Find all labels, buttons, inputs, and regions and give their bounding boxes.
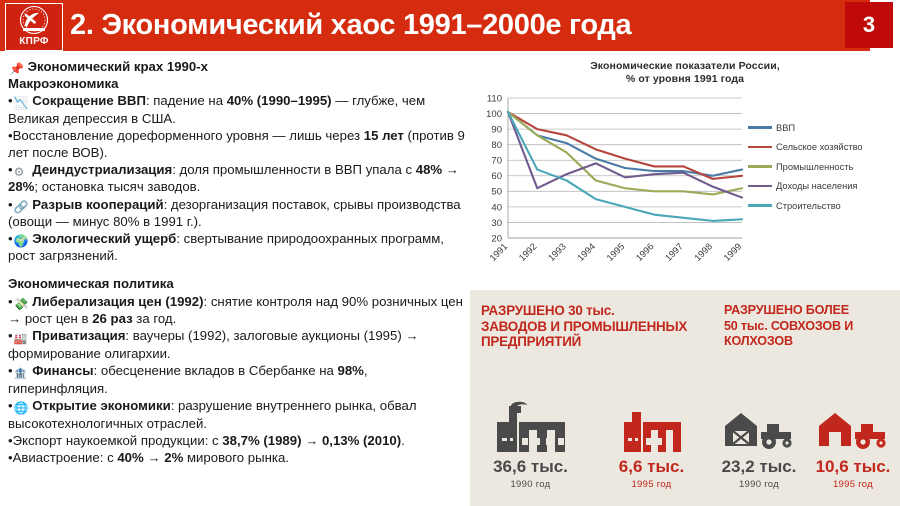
heading-macroeconomics: Макроэкономика [8, 75, 466, 92]
globe-earth-icon: 🌍 [14, 235, 27, 247]
legend-label: Промышленность [776, 162, 853, 172]
text-line-price-liberalization: •💸 Либерализация цен (1992): снятие конт… [8, 293, 466, 327]
bank-icon: 🏦 [14, 368, 27, 380]
figure-value: 36,6 тыс. [493, 457, 568, 477]
infographic-factories: РАЗРУШЕНО 30 тыс. ЗАВОДОВ И ПРОМЫШЛЕННЫХ… [470, 290, 712, 506]
figure-farms-1995: 10,6 тыс. 1995 год [808, 398, 898, 490]
infographic-farms-title: РАЗРУШЕНО БОЛЕЕ 50 тыс. СОВХОЗОВ И КОЛХО… [724, 303, 896, 350]
hammer-sickle-book-emblem [12, 5, 56, 37]
page-number-badge: 3 [845, 2, 893, 48]
legend-label: Строительство [776, 201, 841, 211]
factory-icon [620, 398, 684, 452]
chart-xtick-label: 1995 [605, 241, 627, 263]
slide: КПРФ 2. Экономический хаос 1991–2000е го… [0, 0, 900, 506]
chart-ytick-label: 60 [491, 171, 502, 182]
pushpin-icon: 📌 [9, 63, 22, 75]
text-line-aviation: •Авиастроение: с 40% → 2% мирового рынка… [8, 449, 466, 466]
chart-xtick-label: 1991 [488, 241, 510, 263]
text-line-ecological-damage: •🌍 Экологический ущерб: свертывание прир… [8, 230, 466, 264]
infographic-panel: РАЗРУШЕНО 30 тыс. ЗАВОДОВ И ПРОМЫШЛЕННЫХ… [470, 290, 900, 506]
heading-economic-policy: Экономическая политика [8, 275, 466, 292]
legend-color-swatch [748, 146, 772, 149]
chart-ytick-label: 70 [491, 156, 502, 167]
infographic-factories-figures: 36,6 тыс. 1990 год [470, 398, 712, 490]
legend-item: Строительство [748, 200, 898, 211]
text-line-recovery: •Восстановление дореформенного уровня — … [8, 127, 466, 161]
chart-series-line [508, 112, 742, 198]
figure-value: 10,6 тыс. [816, 457, 891, 477]
farm-tractor-icon [815, 398, 891, 452]
logo-label: КПРФ [19, 37, 49, 47]
figure-year: 1990 год [510, 479, 550, 490]
chart-xtick-label: 1993 [546, 241, 568, 263]
legend-label: Сельское хозяйство [776, 142, 863, 152]
figure-value: 6,6 тыс. [619, 457, 684, 477]
legend-item: Сельское хозяйство [748, 142, 898, 153]
chart-xtick-label: 1994 [575, 241, 597, 263]
text-line-privatization: •🏭 Приватизация: ваучеры (1992), залогов… [8, 327, 466, 362]
figure-year: 1995 год [833, 479, 873, 490]
chart-legend: ВВПСельское хозяйствоПромышленностьДоход… [748, 122, 898, 220]
legend-color-swatch [748, 165, 772, 168]
chart-xtick-label: 1998 [692, 241, 714, 263]
factory-icon: 🏭 [14, 333, 27, 345]
figure-year: 1995 год [631, 479, 671, 490]
chart-xtick-label: 1992 [517, 241, 539, 263]
figure-factories-1995: 6,6 тыс. 1995 год [593, 398, 709, 490]
chart-xtick-label: 1997 [663, 241, 685, 263]
economic-indicators-chart: Экономические показатели России, % от ур… [470, 56, 900, 288]
chart-series-line [508, 112, 742, 194]
broken-link-icon: 🔗 [14, 201, 27, 213]
figure-value: 23,2 тыс. [722, 457, 797, 477]
figure-year: 1990 год [739, 479, 779, 490]
text-line-gdp-drop: •📉 Сокращение ВВП: падение на 40% (1990–… [8, 92, 466, 126]
legend-color-swatch [748, 185, 772, 188]
header-underline [0, 51, 862, 55]
chart-ytick-label: 30 [491, 218, 502, 229]
legend-item: Доходы населения [748, 181, 898, 192]
chart-ytick-label: 90 [491, 125, 502, 136]
chart-ytick-label: 50 [491, 187, 502, 198]
chart-subtitle: % от уровня 1991 года [470, 73, 900, 86]
legend-color-swatch [748, 204, 772, 207]
money-with-wings-icon: 💸 [14, 298, 27, 310]
legend-color-swatch [748, 126, 772, 129]
chart-title: Экономические показатели России, % от ур… [470, 60, 900, 86]
chart-series-line [508, 112, 742, 176]
text-line-cooperation-break: •🔗 Разрыв коопераций: дезорганизация пос… [8, 196, 466, 230]
factory-icon [489, 398, 573, 452]
chart-ytick-label: 110 [487, 93, 502, 104]
chart-title-line1: Экономические показатели России, [470, 60, 900, 73]
chart-series-line [508, 112, 742, 221]
gear-icon: ⚙ [14, 166, 27, 178]
infographic-factories-title: РАЗРУШЕНО 30 тыс. ЗАВОДОВ И ПРОМЫШЛЕННЫХ… [481, 303, 706, 350]
chart-ytick-label: 40 [491, 202, 502, 213]
figure-farms-1990: 23,2 тыс. 1990 год [714, 398, 804, 490]
text-line-hi-tech-export: •Экспорт наукоемкой продукции: с 38,7% (… [8, 432, 466, 449]
legend-label: ВВП [776, 123, 795, 133]
chart-ytick-label: 100 [486, 109, 502, 120]
infographic-farms: РАЗРУШЕНО БОЛЕЕ 50 тыс. СОВХОЗОВ И КОЛХО… [712, 290, 900, 506]
text-line-crash: 📌 Экономический крах 1990-х [8, 58, 466, 75]
kprf-logo: КПРФ [5, 3, 63, 51]
paragraph-spacer [8, 264, 466, 275]
legend-item: Промышленность [748, 161, 898, 172]
content-text-column: 📌 Экономический крах 1990-х Макроэкономи… [8, 58, 466, 503]
chart-xtick-label: 1999 [722, 241, 744, 263]
text-line-deindustrialization: •⚙ Деиндустриализация: доля промышленнос… [8, 161, 466, 195]
chart-xtick-label: 1996 [634, 241, 656, 263]
text-line-open-economy: •🌐 Открытие экономики: разрушение внутре… [8, 397, 466, 431]
page-title: 2. Экономический хаос 1991–2000е года [70, 3, 631, 47]
globe-meridians-icon: 🌐 [14, 402, 27, 414]
figure-factories-1990: 36,6 тыс. 1990 год [472, 398, 588, 490]
infographic-farms-figures: 23,2 тыс. 1990 год [712, 398, 900, 490]
legend-label: Доходы населения [776, 181, 857, 191]
chart-ytick-label: 80 [491, 140, 502, 151]
farm-tractor-icon [721, 398, 797, 452]
text-line-finance: •🏦 Финансы: обесценение вкладов в Сберба… [8, 362, 466, 397]
chart-decreasing-icon: 📉 [14, 97, 27, 109]
legend-item: ВВП [748, 122, 898, 133]
